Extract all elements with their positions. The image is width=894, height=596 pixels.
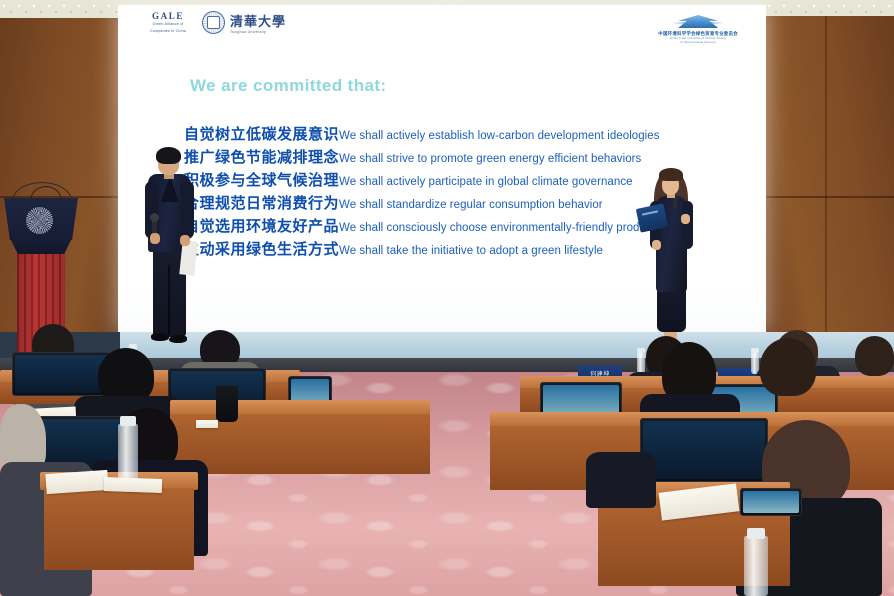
monitor-display [15, 355, 107, 393]
slide-bullet-row: 合理规范日常消费行为 We shall standardize regular … [184, 192, 661, 215]
female-presenter [640, 168, 700, 350]
presenter-hand-right [180, 235, 190, 246]
bullet-english: We shall actively establish low-carbon d… [339, 130, 660, 142]
slide-title: We are committed that: [190, 76, 386, 96]
mountain-wave-icon [672, 13, 724, 30]
gale-logo: GALE Green Alliance of Companies in Chin… [150, 11, 186, 33]
slide-bullet-row: 自觉选用环境友好产品 We shall consciously choose e… [184, 215, 661, 238]
bullet-english: We shall strive to promote green energy … [339, 153, 641, 165]
bullet-chinese: 合理规范日常消费行为 [184, 192, 339, 213]
monitor-display [643, 421, 765, 479]
audience-chair-back [586, 452, 656, 508]
monitor-display [743, 491, 799, 513]
presenter-hair [156, 147, 181, 164]
bottle-cap [637, 348, 645, 353]
slide-bullet-row: 积极参与全球气候治理 We shall actively participate… [184, 169, 661, 192]
gale-logo-mark: GALE [152, 11, 184, 21]
bottle-cap [751, 348, 759, 353]
tsinghua-university-logo: 清華大學 Tsinghua University [202, 11, 286, 34]
presenter-shoe-left [151, 333, 169, 341]
slide-bullet-row: 推广绿色节能减排理念 We shall strive to promote gr… [184, 146, 661, 169]
water-bottle [637, 352, 645, 374]
coffee-cup [216, 386, 238, 422]
presenter-hand-right [681, 214, 690, 224]
bullet-chinese: 主动采用绿色生活方式 [184, 238, 339, 259]
water-bottle [118, 424, 138, 480]
bullet-chinese: 推广绿色节能减排理念 [184, 146, 339, 167]
desk-papers [104, 477, 162, 493]
slide-bullet-list: 自觉树立低碳发展意识 We shall actively establish l… [184, 123, 661, 261]
presenter-hair-top [659, 168, 683, 181]
presenter-arm-right [682, 201, 693, 249]
presenter-arm-right [180, 181, 194, 239]
bullet-english: We shall actively participate in global … [339, 176, 633, 188]
gale-logo-subtitle-line2: Companies in China [150, 29, 186, 34]
bullet-chinese: 积极参与全球气候治理 [184, 169, 339, 190]
bottle-cap [747, 528, 765, 539]
desk-front-panel [44, 488, 194, 570]
tsinghua-seal-icon [202, 11, 225, 34]
bullet-chinese: 自觉选用环境友好产品 [184, 215, 339, 236]
audience-head [760, 338, 816, 396]
audience-head [855, 336, 894, 376]
desk-monitor[interactable] [12, 352, 110, 396]
conference-presentation-photo: GALE Green Alliance of Companies in Chin… [0, 0, 894, 596]
desk-papers [196, 420, 218, 428]
partner-org-logo: 中国环境科学学会绿色贸易专业委员会 Green Trade Committee … [658, 13, 738, 45]
slide-bullet-row: 主动采用绿色生活方式 We shall take the initiative … [184, 238, 661, 261]
partner-logo-english-line2: for Environmental Sciences [680, 41, 715, 45]
bullet-english: We shall take the initiative to adopt a … [339, 245, 603, 257]
presenter-hand-left [652, 240, 661, 250]
slide-logo-group-left: GALE Green Alliance of Companies in Chin… [150, 11, 286, 34]
slide-bullet-row: 自觉树立低碳发展意识 We shall actively establish l… [184, 123, 661, 146]
tsinghua-logo-english: Tsinghua University [230, 30, 286, 34]
wall-panel-right [763, 16, 894, 356]
male-presenter [139, 147, 201, 347]
desk-monitor[interactable] [640, 418, 768, 482]
desk-monitor[interactable] [740, 488, 802, 516]
bullet-english: We shall standardize regular consumption… [339, 199, 603, 211]
bottle-cap [120, 416, 136, 426]
bullet-chinese: 自觉树立低碳发展意识 [184, 123, 339, 144]
presenter-hand-left [150, 233, 160, 244]
presenter-leg-split [168, 265, 170, 335]
circular-seal-emblem [26, 207, 53, 234]
bullet-english: We shall consciously choose environmenta… [339, 222, 661, 234]
presenter-shoe-right [169, 335, 187, 343]
water-bottle [744, 536, 768, 596]
gale-logo-subtitle-line1: Green Alliance of [153, 22, 184, 27]
tsinghua-logo-chinese: 清華大學 [230, 11, 286, 30]
microphone-head-icon [150, 213, 159, 222]
